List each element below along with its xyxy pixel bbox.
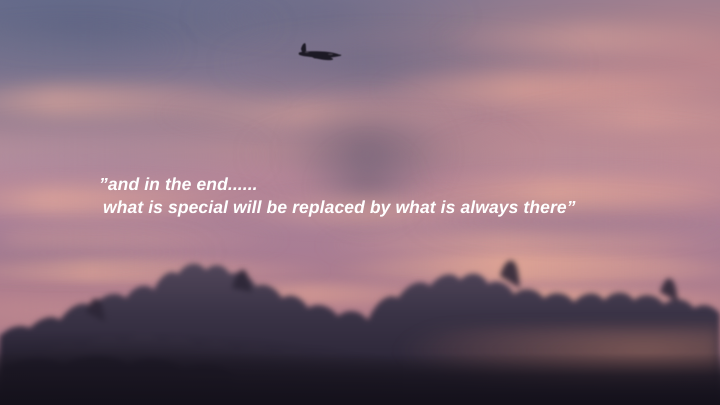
sunset-sky-photo: ”and in the end...... what is special wi… xyxy=(0,0,720,405)
quote-caption: ”and in the end...... what is special wi… xyxy=(99,173,659,219)
caption-line-1: ”and in the end...... xyxy=(99,173,659,196)
caption-line-2: what is special will be replaced by what… xyxy=(99,196,659,219)
